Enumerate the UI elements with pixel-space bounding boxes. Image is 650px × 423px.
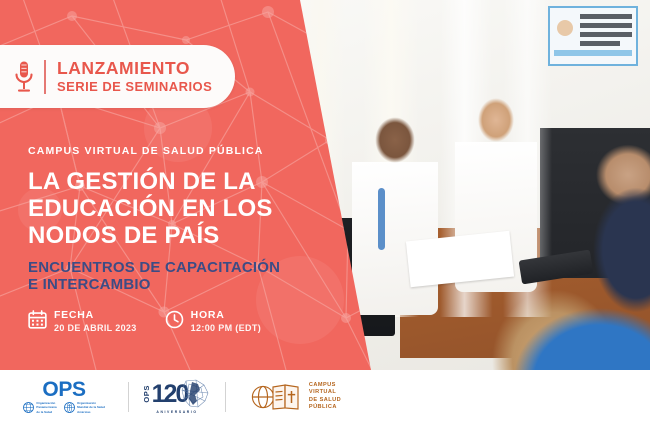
date-value: 20 DE ABRIL 2023 [54, 323, 137, 334]
subhead-line-2: E INTERCAMBIO [28, 276, 318, 294]
badge-divider [44, 60, 46, 94]
anniversary-logo: OPS 120 ANIVERSARIO [129, 377, 225, 417]
wall-poster-icon [548, 6, 638, 66]
clock-icon [165, 310, 184, 329]
ops-logo: OPS Organización Panamericana [0, 377, 128, 417]
cvsp-line-3: DE SALUD [309, 397, 341, 404]
cvsp-logo: CAMPUS VIRTUAL DE SALUD PÚBLICA [226, 377, 366, 417]
title-block: CAMPUS VIRTUAL DE SALUD PÚBLICA LA GESTI… [28, 145, 318, 294]
page-subtitle: ENCUENTROS DE CAPACITACIÓN E INTERCAMBIO [28, 259, 318, 294]
eyebrow-text: CAMPUS VIRTUAL DE SALUD PÚBLICA [28, 145, 318, 157]
date-label: FECHA [54, 309, 137, 322]
headline-line-2: EDUCACIÓN EN LOS [28, 195, 318, 222]
headline-line-3: NODOS DE PAÍS [28, 222, 318, 249]
paho-emblem-group: Organización Panamericana de la Salud [23, 402, 57, 414]
cvsp-line-4: PÚBLICA [309, 404, 341, 411]
subhead-line-1: ENCUENTROS DE CAPACITACIÓN [28, 259, 318, 277]
logo-footer: OPS Organización Panamericana [0, 370, 650, 423]
cvsp-line-2: VIRTUAL [309, 389, 341, 396]
americas-map-icon [178, 379, 212, 409]
badge-text: LANZAMIENTO SERIE DE SEMINARIOS [57, 59, 212, 94]
cvsp-line-1: CAMPUS [309, 382, 341, 389]
calendar-icon [28, 310, 47, 329]
event-meta: FECHA 20 DE ABRIL 2023 HORA 12:00 PM (ED… [28, 309, 261, 334]
paho-org-line-3: de la Salud [36, 411, 56, 414]
cvsp-emblem-icon [251, 380, 303, 414]
time-value: 12:00 PM (EDT) [191, 323, 261, 334]
date-text: FECHA 20 DE ABRIL 2023 [54, 309, 137, 334]
seminar-promo-banner: LANZAMIENTO SERIE DE SEMINARIOS CAMPUS V… [0, 0, 650, 423]
anniversary-caption: ANIVERSARIO [156, 410, 197, 414]
launch-badge: LANZAMIENTO SERIE DE SEMINARIOS [0, 45, 235, 108]
who-emblem-group: Organización Mundial de la Salud América… [64, 402, 105, 414]
who-emblem-icon [64, 402, 75, 413]
time-label: HORA [191, 309, 261, 322]
paho-emblem-icon [23, 402, 34, 413]
time-text: HORA 12:00 PM (EDT) [191, 309, 261, 334]
badge-line-1: LANZAMIENTO [57, 59, 212, 79]
ops-wordmark: OPS [42, 379, 85, 400]
event-time: HORA 12:00 PM (EDT) [165, 309, 261, 334]
microphone-icon [14, 60, 34, 94]
event-date: FECHA 20 DE ABRIL 2023 [28, 309, 137, 334]
anniversary-ops-label: OPS [142, 385, 151, 403]
badge-line-2: SERIE DE SEMINARIOS [57, 80, 212, 95]
who-org-line-3: Américas [77, 411, 105, 414]
page-title: LA GESTIÓN DE LA EDUCACIÓN EN LOS NODOS … [28, 168, 318, 250]
headline-line-1: LA GESTIÓN DE LA [28, 168, 318, 195]
